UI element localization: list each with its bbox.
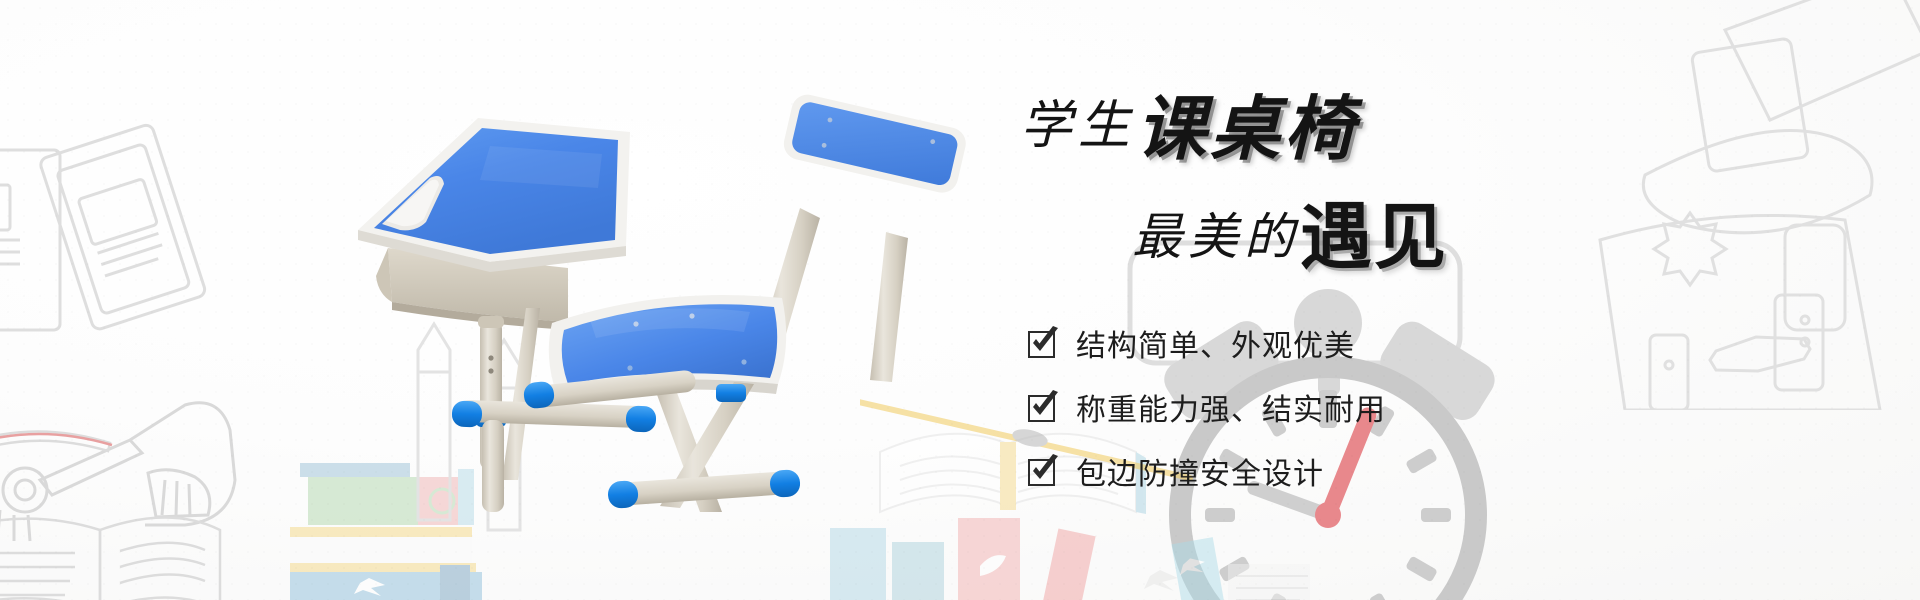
checkbox-checked-icon (1028, 457, 1056, 485)
headline-line-2-bold: 遇见 (1300, 198, 1448, 278)
headline-line-1: 学生课桌椅 (1020, 96, 1760, 166)
notebook-line-art (0, 110, 230, 350)
feature-label: 称重能力强、结实耐用 (1076, 385, 1386, 429)
promo-banner: 学生课桌椅 最美的遇见 结构简单、外观优美 (0, 0, 1920, 600)
banner-copy: 学生课桌椅 最美的遇见 结构简单、外观优美 (1020, 96, 1760, 513)
student-desk-and-chair-photo (330, 80, 950, 510)
feature-label: 结构简单、外观优美 (1076, 321, 1355, 365)
feature-item: 称重能力强、结实耐用 (1028, 385, 1760, 429)
headline-line-1-light: 学生 (1020, 98, 1136, 155)
checkbox-checked-icon (1028, 393, 1056, 421)
headline-line-2: 最美的遇见 (1020, 178, 1760, 283)
checkbox-checked-icon (1028, 329, 1056, 357)
feature-item: 包边防撞安全设计 (1028, 449, 1760, 493)
feature-label: 包边防撞安全设计 (1076, 449, 1324, 493)
feature-list: 结构简单、外观优美 称重能力强、结实耐用 包边防撞安 (1020, 321, 1760, 493)
headline-line-1-bold: 课桌椅 (1136, 92, 1358, 169)
headline-line-2-light: 最美的 (1132, 209, 1300, 265)
feature-item: 结构简单、外观优美 (1028, 321, 1760, 365)
